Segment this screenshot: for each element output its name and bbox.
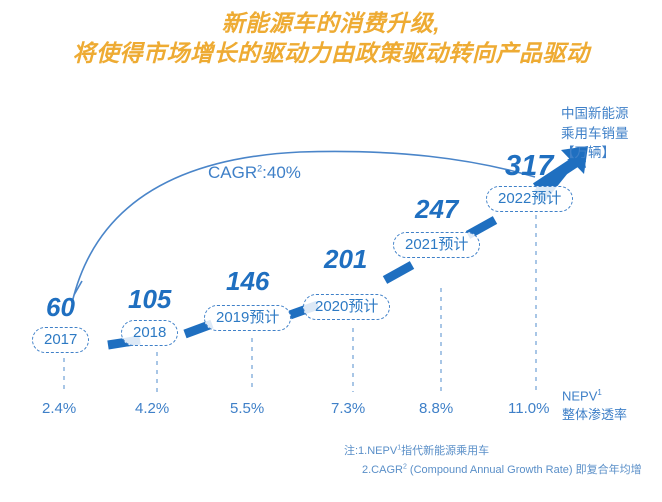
year-pill-2019[interactable]: 2019预计 xyxy=(204,305,291,331)
pct-label-2018: 4.2% xyxy=(135,400,169,417)
chart-canvas: 新能源车的消费升级, 将使得市场增长的驱动力由政策驱动转向产品驱动 xyxy=(0,0,662,502)
nepv-caption-line-1: NEPV1 xyxy=(562,387,627,406)
value-label-2019: 146 xyxy=(226,266,269,297)
footnotes: 注:1.NEPV1指代新能源乘用车 2.CAGR2 (Compound Annu… xyxy=(344,442,642,479)
series-caption-line-2: 乘用车销量 xyxy=(561,124,629,144)
pct-label-2019: 5.5% xyxy=(230,400,264,417)
footnote-1-rest: 指代新能源乘用车 xyxy=(401,445,489,457)
page-title: 新能源车的消费升级, 将使得市场增长的驱动力由政策驱动转向产品驱动 xyxy=(0,8,662,69)
year-pill-2021[interactable]: 2021预计 xyxy=(393,232,480,258)
nepv-superscript: 1 xyxy=(597,388,601,397)
value-label-2020: 201 xyxy=(324,244,367,275)
year-pill-2020[interactable]: 2020预计 xyxy=(303,294,390,320)
cagr-arc-start-tick xyxy=(74,281,82,295)
series-caption-line-1: 中国新能源 xyxy=(561,104,629,124)
series-caption: 中国新能源 乘用车销量 【万辆】 xyxy=(561,104,629,163)
footnote-2-rest: (Compound Annual Growth Rate) 即复合年均增 xyxy=(407,464,642,476)
cagr-value: :40% xyxy=(262,163,301,182)
cagr-arc xyxy=(72,151,535,303)
footnote-2-prefix: 2.CAGR xyxy=(362,464,403,476)
series-caption-line-3: 【万辆】 xyxy=(561,143,629,163)
value-label-2022: 317 xyxy=(505,150,553,183)
footnote-2: 2.CAGR2 (Compound Annual Growth Rate) 即复… xyxy=(344,461,642,480)
footnote-1-prefix: 注:1.NEPV xyxy=(344,445,397,457)
year-pill-2018[interactable]: 2018 xyxy=(121,320,178,346)
pct-label-2021: 8.8% xyxy=(419,400,453,417)
cagr-prefix: CAGR xyxy=(208,163,257,182)
nepv-label: NEPV xyxy=(562,388,597,403)
value-label-2018: 105 xyxy=(128,284,171,315)
nepv-caption-line-2: 整体渗透率 xyxy=(562,406,627,424)
title-line-1: 新能源车的消费升级, xyxy=(0,8,662,38)
pct-label-2017: 2.4% xyxy=(42,400,76,417)
cagr-annotation: CAGR2:40% xyxy=(208,163,301,183)
year-pill-2017[interactable]: 2017 xyxy=(32,327,89,353)
nepv-caption: NEPV1 整体渗透率 xyxy=(562,387,627,424)
pct-label-2022: 11.0% xyxy=(508,400,549,417)
value-label-2017: 60 xyxy=(46,292,75,323)
year-pill-2022[interactable]: 2022预计 xyxy=(486,186,573,212)
connector-2020-2021 xyxy=(385,265,412,280)
pct-label-2020: 7.3% xyxy=(331,400,365,417)
title-line-2: 将使得市场增长的驱动力由政策驱动转向产品驱动 xyxy=(0,38,662,68)
footnote-1: 注:1.NEPV1指代新能源乘用车 xyxy=(344,442,642,461)
value-label-2021: 247 xyxy=(415,194,458,225)
